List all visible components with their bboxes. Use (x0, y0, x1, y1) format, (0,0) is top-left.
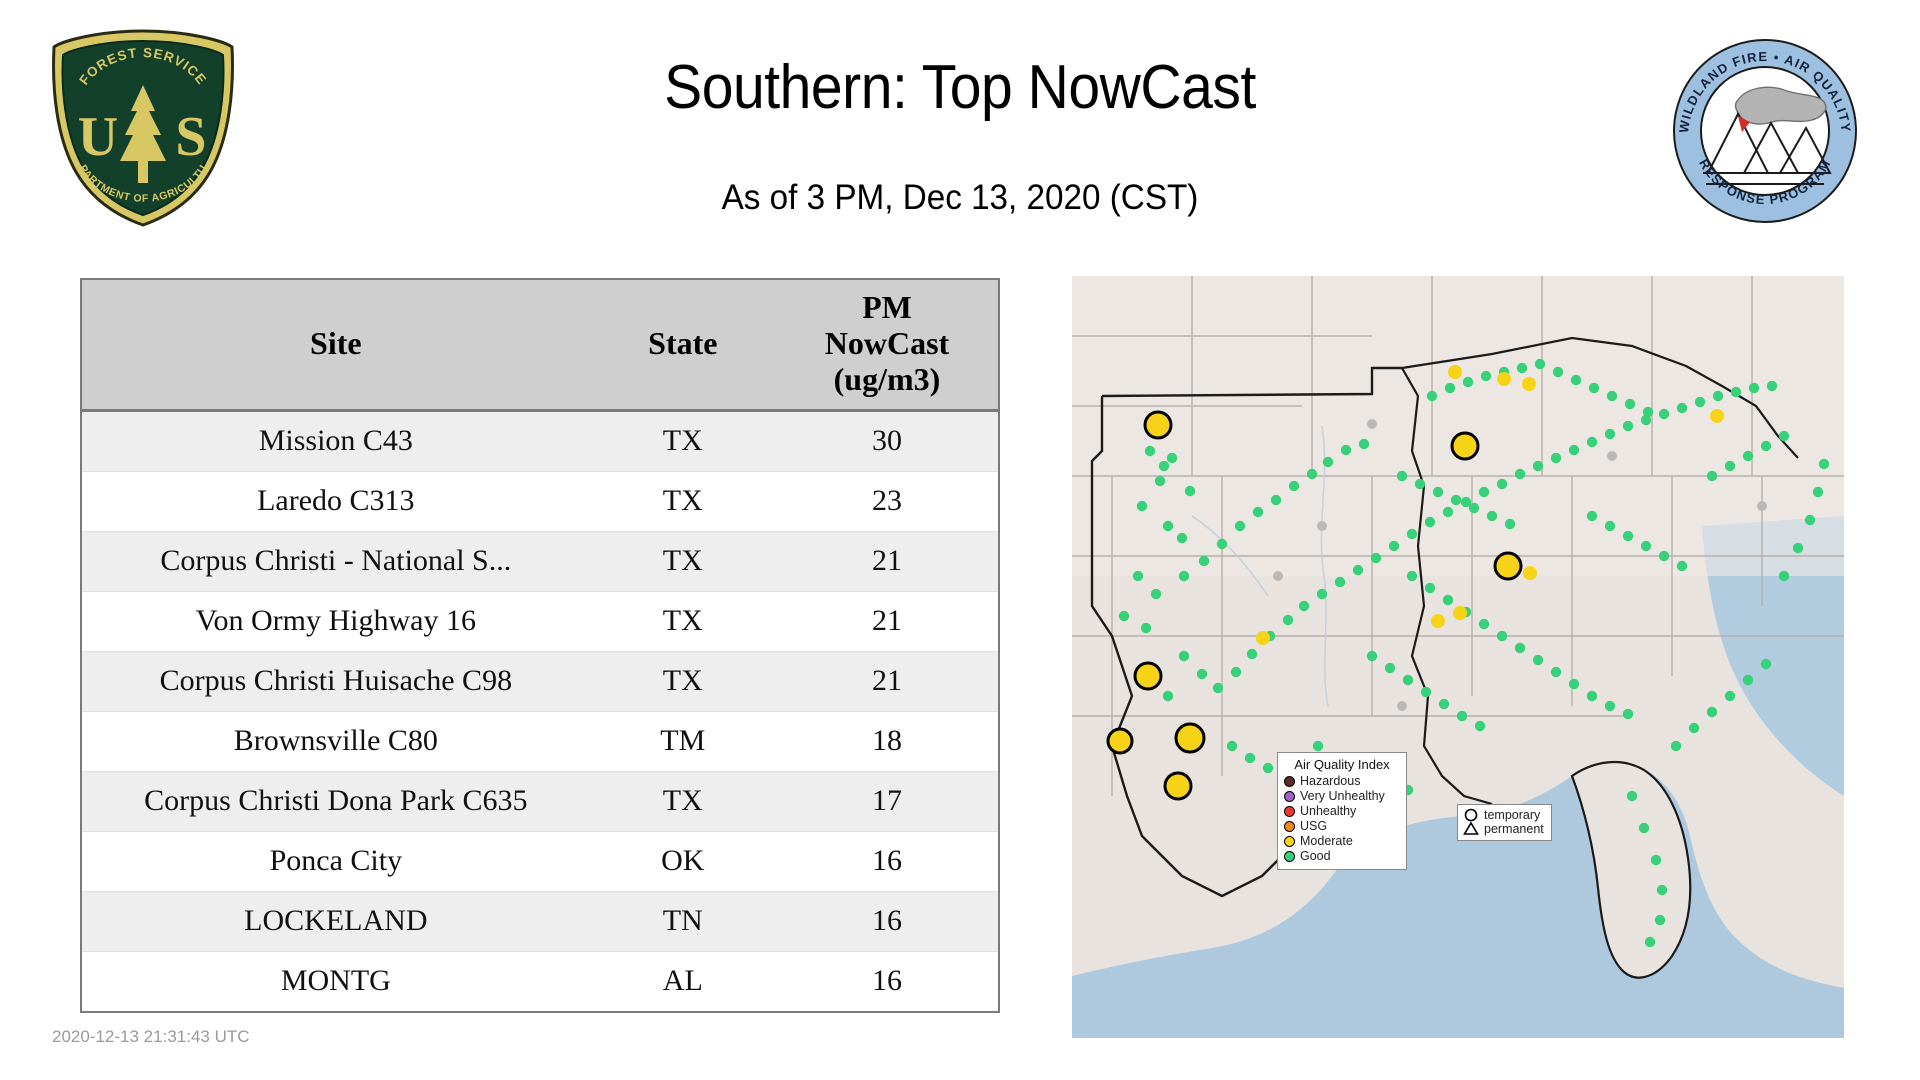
cell-site: Corpus Christi Dona Park C635 (82, 772, 590, 832)
monitor-dot-moderate[interactable] (1448, 365, 1462, 379)
monitor-dot-good[interactable] (1589, 383, 1599, 393)
cell-state: TX (590, 652, 776, 712)
cell-pm-nowcast: 16 (776, 832, 998, 892)
monitor-dot-good[interactable] (1137, 501, 1147, 511)
monitor-dot-good[interactable] (1707, 707, 1717, 717)
monitor-dot-good[interactable] (1805, 515, 1815, 525)
monitor-dot-good[interactable] (1533, 461, 1543, 471)
monitor-dot-moderate[interactable] (1453, 606, 1467, 620)
monitor-dot-good[interactable] (1133, 571, 1143, 581)
monitor-dot-good[interactable] (1443, 507, 1453, 517)
monitor-dot-good[interactable] (1813, 487, 1823, 497)
cell-state: TX (590, 472, 776, 532)
monitor-dot-good[interactable] (1659, 409, 1669, 419)
cell-state: AL (590, 952, 776, 1012)
monitor-dot-good[interactable] (1569, 679, 1579, 689)
monitor-dot-good[interactable] (1671, 741, 1681, 751)
monitor-dot-good[interactable] (1587, 691, 1597, 701)
aqi-swatch-icon (1284, 806, 1295, 817)
monitor-dot-good[interactable] (1725, 691, 1735, 701)
monitor-dot-good[interactable] (1625, 399, 1635, 409)
monitor-dot-good[interactable] (1421, 687, 1431, 697)
monitor-dot-good[interactable] (1167, 453, 1177, 463)
table-row[interactable]: Corpus Christi Huisache C98TX21 (82, 652, 998, 712)
monitor-dot-good[interactable] (1605, 701, 1615, 711)
monitor-dot-nodata[interactable] (1397, 701, 1407, 711)
monitor-dot-good[interactable] (1397, 471, 1407, 481)
monitor-dot-good[interactable] (1761, 441, 1771, 451)
aqi-swatch-icon (1284, 776, 1295, 787)
monitor-dot-good[interactable] (1359, 439, 1369, 449)
monitor-dot-good[interactable] (1481, 371, 1491, 381)
cell-pm-nowcast: 17 (776, 772, 998, 832)
symbol-legend-labels: temporary permanent (1484, 808, 1544, 836)
monitor-dot-good[interactable] (1177, 533, 1187, 543)
table-row[interactable]: MONTGAL16 (82, 952, 998, 1012)
monitor-dot-moderate[interactable] (1108, 729, 1132, 753)
monitor-dot-moderate[interactable] (1710, 409, 1724, 423)
monitor-dot-good[interactable] (1271, 495, 1281, 505)
monitor-dot-good[interactable] (1247, 649, 1257, 659)
table-row[interactable]: Corpus Christi - National S...TX21 (82, 532, 998, 592)
cell-state: TX (590, 411, 776, 472)
monitor-dot-good[interactable] (1443, 595, 1453, 605)
cell-site: Corpus Christi Huisache C98 (82, 652, 590, 712)
monitor-dot-moderate[interactable] (1135, 663, 1161, 689)
cell-pm-nowcast: 21 (776, 652, 998, 712)
monitor-dot-moderate[interactable] (1256, 631, 1270, 645)
monitor-dot-good[interactable] (1641, 541, 1651, 551)
monitor-dot-good[interactable] (1515, 469, 1525, 479)
monitor-dot-good[interactable] (1677, 403, 1687, 413)
monitor-dot-good[interactable] (1427, 391, 1437, 401)
monitor-dot-good[interactable] (1185, 486, 1195, 496)
monitor-dot-nodata[interactable] (1757, 501, 1767, 511)
monitor-dot-good[interactable] (1151, 589, 1161, 599)
temporary-permanent-icon (1463, 808, 1479, 836)
aqi-legend-label: USG (1300, 819, 1327, 834)
monitor-dot-good[interactable] (1289, 481, 1299, 491)
monitor-dot-good[interactable] (1445, 383, 1455, 393)
pm-header-line-3: (ug/m3) (780, 362, 994, 398)
monitor-dot-good[interactable] (1213, 683, 1223, 693)
table-row[interactable]: Mission C43TX30 (82, 411, 998, 472)
cell-site: LOCKELAND (82, 892, 590, 952)
top-nowcast-table: Site State PM NowCast (ug/m3) Mission C4… (80, 278, 1000, 1013)
monitor-dot-nodata[interactable] (1607, 451, 1617, 461)
cell-state: TX (590, 532, 776, 592)
monitor-dot-good[interactable] (1425, 583, 1435, 593)
cell-site: MONTG (82, 952, 590, 1012)
aqi-legend-label: Hazardous (1300, 774, 1360, 789)
monitor-dot-good[interactable] (1725, 461, 1735, 471)
aqi-legend-label: Good (1300, 849, 1331, 864)
cell-site: Brownsville C80 (82, 712, 590, 772)
monitor-dot-good[interactable] (1695, 397, 1705, 407)
monitor-dot-good[interactable] (1155, 476, 1165, 486)
monitor-dot-good[interactable] (1793, 543, 1803, 553)
monitor-dot-good[interactable] (1299, 601, 1309, 611)
generated-timestamp: 2020-12-13 21:31:43 UTC (52, 1027, 250, 1047)
table-row[interactable]: Von Ormy Highway 16TX21 (82, 592, 998, 652)
monitor-dot-good[interactable] (1231, 667, 1241, 677)
aqi-swatch-icon (1284, 836, 1295, 847)
monitor-dot-good[interactable] (1749, 383, 1759, 393)
column-header-pm-nowcast[interactable]: PM NowCast (ug/m3) (776, 280, 998, 411)
cell-pm-nowcast: 21 (776, 532, 998, 592)
monitor-dot-moderate[interactable] (1145, 412, 1171, 438)
monitor-dot-good[interactable] (1217, 539, 1227, 549)
monitor-dot-good[interactable] (1505, 519, 1515, 529)
monitor-dot-good[interactable] (1677, 561, 1687, 571)
monitor-dot-good[interactable] (1623, 709, 1633, 719)
monitor-dot-good[interactable] (1571, 375, 1581, 385)
monitor-dot-good[interactable] (1569, 445, 1579, 455)
table-row[interactable]: Ponca CityOK16 (82, 832, 998, 892)
monitor-dot-good[interactable] (1179, 651, 1189, 661)
monitor-dot-good[interactable] (1497, 479, 1507, 489)
monitor-dot-good[interactable] (1439, 699, 1449, 709)
monitor-dot-good[interactable] (1227, 741, 1237, 751)
aqi-legend-item: USG (1284, 819, 1400, 834)
wfaqrp-logo: WILDLAND FIRE • AIR QUALITY RESPONSE PRO… (1672, 38, 1858, 224)
cell-pm-nowcast: 18 (776, 712, 998, 772)
cell-pm-nowcast: 21 (776, 592, 998, 652)
monitor-dot-good[interactable] (1141, 623, 1151, 633)
monitor-dot-good[interactable] (1731, 387, 1741, 397)
cell-pm-nowcast: 16 (776, 952, 998, 1012)
permanent-label: permanent (1484, 822, 1544, 836)
page-title: Southern: Top NowCast (77, 52, 1843, 123)
aqi-swatch-icon (1284, 791, 1295, 802)
southern-region-air-quality-map[interactable]: Air Quality Index HazardousVery Unhealth… (1072, 276, 1844, 1038)
aqi-legend-title: Air Quality Index (1284, 757, 1400, 772)
cell-pm-nowcast: 23 (776, 472, 998, 532)
monitor-dot-good[interactable] (1371, 553, 1381, 563)
monitor-dot-good[interactable] (1761, 659, 1771, 669)
monitor-dot-good[interactable] (1487, 511, 1497, 521)
aqi-legend: Air Quality Index HazardousVery Unhealth… (1277, 752, 1407, 870)
monitor-dot-good[interactable] (1253, 507, 1263, 517)
monitor-dot-good[interactable] (1433, 487, 1443, 497)
monitor-dot-good[interactable] (1623, 531, 1633, 541)
monitor-dot-good[interactable] (1457, 711, 1467, 721)
monitor-dot-good[interactable] (1659, 551, 1669, 561)
cell-state: TM (590, 712, 776, 772)
monitor-dot-moderate[interactable] (1495, 553, 1521, 579)
monitor-dot-good[interactable] (1643, 407, 1653, 417)
monitor-dot-good[interactable] (1407, 529, 1417, 539)
monitor-dot-good[interactable] (1479, 487, 1489, 497)
table-row[interactable]: Brownsville C80TM18 (82, 712, 998, 772)
monitor-dot-good[interactable] (1627, 791, 1637, 801)
cell-pm-nowcast: 16 (776, 892, 998, 952)
monitor-dot-moderate[interactable] (1522, 377, 1536, 391)
cell-state: OK (590, 832, 776, 892)
monitor-dot-good[interactable] (1479, 619, 1489, 629)
monitor-dot-good[interactable] (1407, 571, 1417, 581)
monitor-dot-moderate[interactable] (1431, 614, 1445, 628)
monitor-dot-good[interactable] (1605, 521, 1615, 531)
monitor-dot-good[interactable] (1335, 577, 1345, 587)
slide-canvas: U S FOREST SERVICE DEPARTMENT OF AGRICUL… (0, 0, 1920, 1080)
monitor-dot-good[interactable] (1323, 457, 1333, 467)
aqi-legend-label: Unhealthy (1300, 804, 1356, 819)
monitor-dot-good[interactable] (1475, 721, 1485, 731)
aqi-legend-item: Hazardous (1284, 774, 1400, 789)
cell-site: Corpus Christi - National S... (82, 532, 590, 592)
temporary-label: temporary (1484, 808, 1544, 822)
monitor-dot-good[interactable] (1389, 541, 1399, 551)
monitor-dot-good[interactable] (1743, 451, 1753, 461)
monitor-dot-good[interactable] (1367, 651, 1377, 661)
monitor-dot-good[interactable] (1605, 429, 1615, 439)
monitor-dot-good[interactable] (1119, 611, 1129, 621)
monitor-dot-moderate[interactable] (1497, 372, 1511, 386)
aqi-legend-item: Unhealthy (1284, 804, 1400, 819)
monitor-dot-good[interactable] (1307, 469, 1317, 479)
table-row[interactable]: Corpus Christi Dona Park C635TX17 (82, 772, 998, 832)
monitor-dot-good[interactable] (1263, 763, 1273, 773)
monitor-dot-good[interactable] (1713, 391, 1723, 401)
monitor-dot-good[interactable] (1743, 675, 1753, 685)
monitor-dot-good[interactable] (1689, 723, 1699, 733)
monitor-dot-good[interactable] (1159, 461, 1169, 471)
monitor-dot-good[interactable] (1463, 377, 1473, 387)
monitor-dot-good[interactable] (1779, 431, 1789, 441)
monitor-dot-good[interactable] (1645, 937, 1655, 947)
monitor-dot-good[interactable] (1283, 615, 1293, 625)
column-header-state[interactable]: State (590, 280, 776, 411)
monitor-dot-good[interactable] (1199, 556, 1209, 566)
monitor-dot-moderate[interactable] (1523, 566, 1537, 580)
column-header-site[interactable]: Site (82, 280, 590, 411)
cell-site: Von Ormy Highway 16 (82, 592, 590, 652)
monitor-dot-good[interactable] (1535, 359, 1545, 369)
monitor-dot-good[interactable] (1385, 663, 1395, 673)
monitor-dot-good[interactable] (1551, 667, 1561, 677)
monitor-dot-good[interactable] (1657, 885, 1667, 895)
table-row[interactable]: Laredo C313TX23 (82, 472, 998, 532)
monitor-dot-good[interactable] (1353, 565, 1363, 575)
monitor-dot-nodata[interactable] (1367, 419, 1377, 429)
pm-header-line-1: PM (780, 290, 994, 326)
monitor-dot-moderate[interactable] (1452, 433, 1478, 459)
monitor-dot-good[interactable] (1179, 571, 1189, 581)
monitor-dot-moderate[interactable] (1176, 724, 1204, 752)
aqi-legend-item: Very Unhealthy (1284, 789, 1400, 804)
aqi-legend-item: Moderate (1284, 834, 1400, 849)
monitor-dot-good[interactable] (1651, 855, 1661, 865)
monitor-dot-good[interactable] (1707, 471, 1717, 481)
monitor-dot-good[interactable] (1425, 517, 1435, 527)
monitor-dot-good[interactable] (1313, 741, 1323, 751)
monitor-symbol-legend: temporary permanent (1457, 804, 1552, 841)
pm-header-line-2: NowCast (780, 326, 994, 362)
monitor-dot-good[interactable] (1197, 669, 1207, 679)
monitor-dot-good[interactable] (1779, 571, 1789, 581)
monitor-dot-good[interactable] (1415, 479, 1425, 489)
monitor-dot-good[interactable] (1403, 675, 1413, 685)
table-header-row: Site State PM NowCast (ug/m3) (82, 280, 998, 411)
monitor-dot-good[interactable] (1235, 521, 1245, 531)
table-row[interactable]: LOCKELANDTN16 (82, 892, 998, 952)
monitor-dot-good[interactable] (1497, 631, 1507, 641)
monitor-dot-good[interactable] (1145, 446, 1155, 456)
monitor-dot-good[interactable] (1163, 521, 1173, 531)
cell-pm-nowcast: 30 (776, 411, 998, 472)
monitor-dot-nodata[interactable] (1273, 571, 1283, 581)
aqi-legend-label: Moderate (1300, 834, 1353, 849)
aqi-legend-item: Good (1284, 849, 1400, 864)
cell-state: TX (590, 772, 776, 832)
monitor-dot-good[interactable] (1587, 511, 1597, 521)
monitor-dot-good[interactable] (1317, 589, 1327, 599)
monitor-dot-good[interactable] (1623, 421, 1633, 431)
monitor-dot-good[interactable] (1551, 453, 1561, 463)
aqi-legend-label: Very Unhealthy (1300, 789, 1385, 804)
cell-site: Mission C43 (82, 411, 590, 472)
monitor-dot-good[interactable] (1553, 367, 1563, 377)
monitor-dot-good[interactable] (1469, 503, 1479, 513)
aqi-swatch-icon (1284, 821, 1295, 832)
monitor-dot-nodata[interactable] (1317, 521, 1327, 531)
monitor-dot-good[interactable] (1639, 823, 1649, 833)
monitor-dot-good[interactable] (1341, 445, 1351, 455)
monitor-dot-good[interactable] (1245, 753, 1255, 763)
cell-site: Ponca City (82, 832, 590, 892)
monitor-dot-good[interactable] (1587, 437, 1597, 447)
page-subtitle: As of 3 PM, Dec 13, 2020 (CST) (48, 178, 1872, 218)
cell-state: TN (590, 892, 776, 952)
monitor-dot-good[interactable] (1607, 391, 1617, 401)
monitor-dot-good[interactable] (1163, 691, 1173, 701)
monitor-dot-good[interactable] (1517, 363, 1527, 373)
symbol-glyphs (1463, 808, 1479, 836)
cell-site: Laredo C313 (82, 472, 590, 532)
monitor-dot-good[interactable] (1819, 459, 1829, 469)
monitor-dot-good[interactable] (1655, 915, 1665, 925)
monitor-dot-good[interactable] (1451, 495, 1461, 505)
monitor-dot-good[interactable] (1767, 381, 1777, 391)
cell-state: TX (590, 592, 776, 652)
monitor-dot-moderate[interactable] (1165, 773, 1191, 799)
monitor-dot-good[interactable] (1515, 643, 1525, 653)
aqi-swatch-icon (1284, 851, 1295, 862)
monitor-dot-good[interactable] (1533, 655, 1543, 665)
